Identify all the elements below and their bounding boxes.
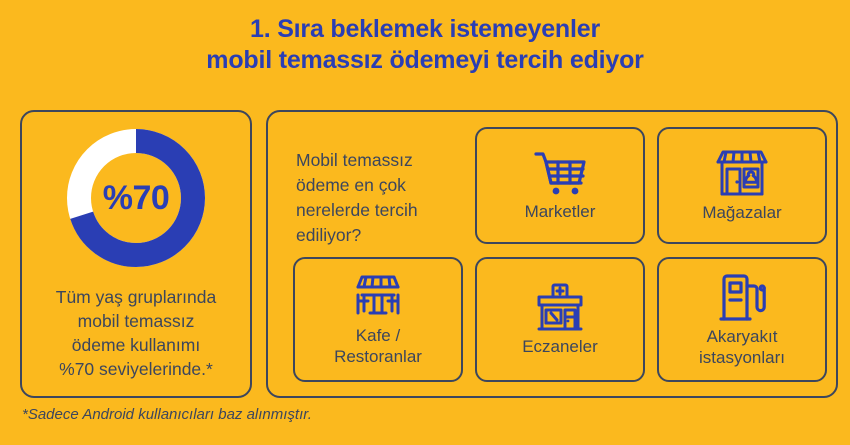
stat-caption-line-4: %70 seviyelerinde.* bbox=[30, 357, 242, 381]
place-card-eczaneler[interactable]: Eczaneler bbox=[475, 257, 645, 382]
places-question-line-1: Mobil temassız bbox=[296, 148, 476, 173]
footnote: *Sadece Android kullanıcıları baz alınmı… bbox=[22, 406, 312, 423]
place-card-akaryakit[interactable]: Akaryakıt istasyonları bbox=[657, 257, 827, 382]
place-card-label-line-1: Akaryakıt bbox=[699, 326, 785, 347]
place-card-label: Akaryakıt istasyonları bbox=[699, 326, 785, 368]
place-card-label: Mağazalar bbox=[702, 202, 781, 223]
donut-chart: %70 bbox=[66, 128, 206, 268]
place-card-label: Eczaneler bbox=[522, 336, 598, 357]
donut-value-label: %70 bbox=[66, 128, 206, 268]
stat-caption-line-3: ödeme kullanımı bbox=[30, 333, 242, 357]
places-panel: Mobil temassız ödeme en çok nerelerde te… bbox=[266, 110, 838, 398]
places-question-line-2: ödeme en çok bbox=[296, 173, 476, 198]
places-question-line-4: ediliyor? bbox=[296, 223, 476, 248]
fuel-pump-icon bbox=[718, 272, 766, 322]
place-card-label-line-2: Restoranlar bbox=[334, 346, 422, 367]
pharmacy-icon bbox=[533, 282, 587, 332]
place-card-label-line-2: istasyonları bbox=[699, 347, 785, 368]
place-card-label-line-1: Kafe / bbox=[334, 325, 422, 346]
places-question: Mobil temassız ödeme en çok nerelerde te… bbox=[296, 148, 476, 248]
page-title-line-2: mobil temassız ödemeyi tercih ediyor bbox=[0, 45, 850, 76]
place-card-magazalar[interactable]: Mağazalar bbox=[657, 127, 827, 244]
storefront-icon bbox=[715, 148, 769, 198]
place-card-label: Kafe / Restoranlar bbox=[334, 325, 422, 367]
cafe-table-icon bbox=[350, 273, 406, 321]
place-card-kafe-restoranlar[interactable]: Kafe / Restoranlar bbox=[293, 257, 463, 382]
stat-caption-line-1: Tüm yaş gruplarında bbox=[30, 285, 242, 309]
place-card-label: Marketler bbox=[525, 201, 596, 222]
page-title-line-1: 1. Sıra beklemek istemeyenler bbox=[0, 14, 850, 45]
stat-caption-line-2: mobil temassız bbox=[30, 309, 242, 333]
stat-caption: Tüm yaş gruplarında mobil temassız ödeme… bbox=[30, 285, 242, 381]
place-card-marketler[interactable]: Marketler bbox=[475, 127, 645, 244]
places-question-line-3: nerelerde tercih bbox=[296, 198, 476, 223]
page-title: 1. Sıra beklemek istemeyenler mobil tema… bbox=[0, 14, 850, 76]
stat-panel: %70 Tüm yaş gruplarında mobil temassız ö… bbox=[20, 110, 252, 398]
shopping-cart-icon bbox=[532, 149, 588, 197]
